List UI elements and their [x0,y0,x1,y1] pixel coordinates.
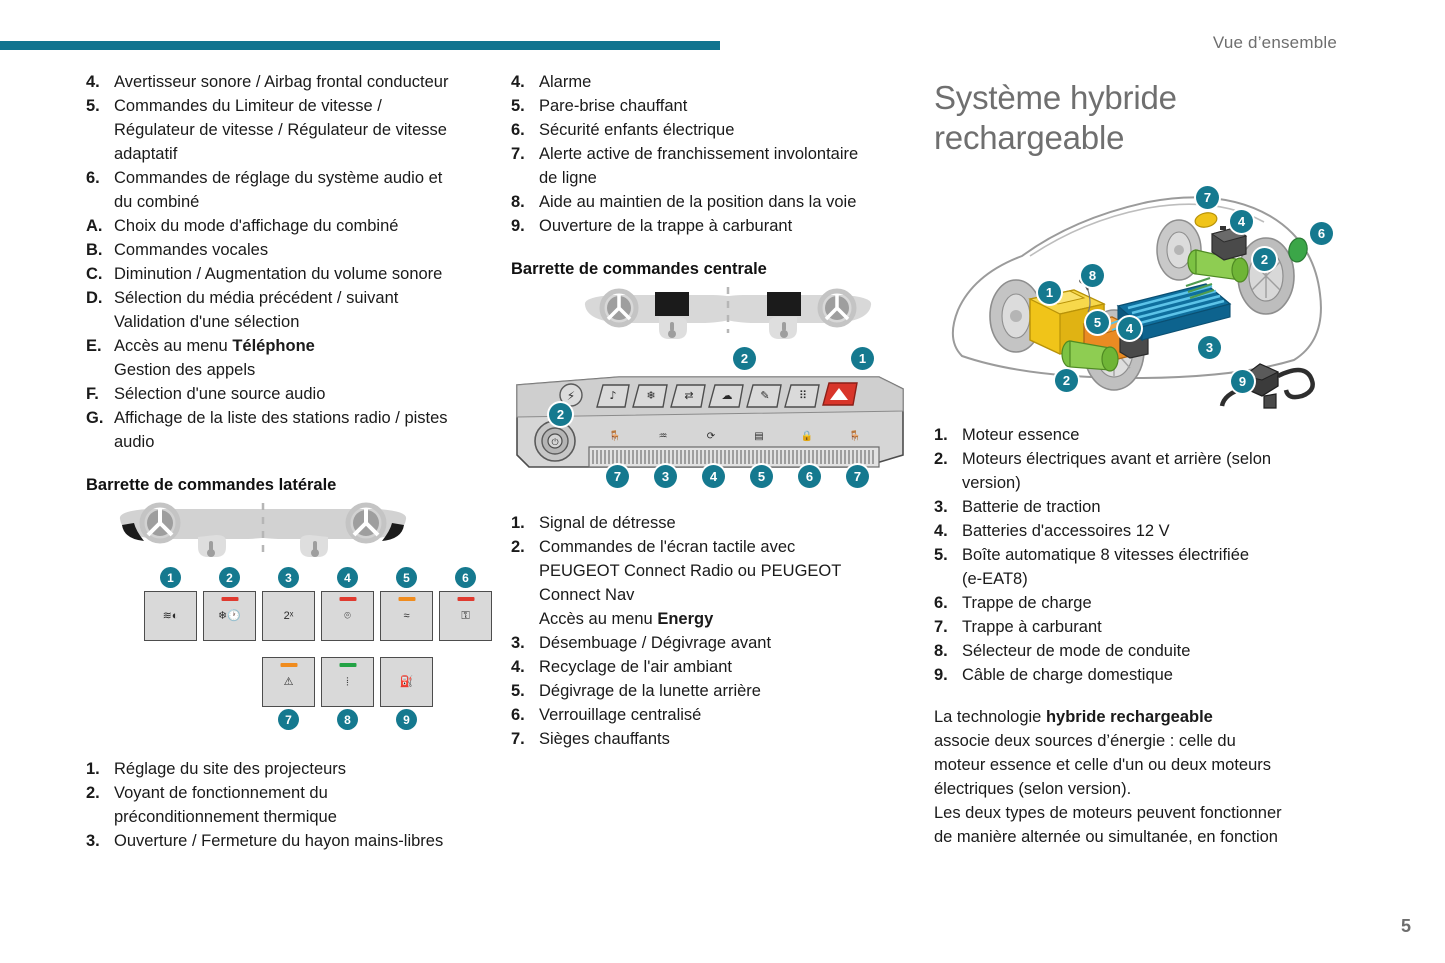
list-item-marker: 5. [934,543,962,567]
page-title-line-1: Système hybride [934,79,1177,116]
car-callout-badge-2: 2 [1253,248,1276,271]
list-item-line: Boîte automatique 8 vitesses électrifiée [962,543,1334,567]
svg-text:✎: ✎ [760,389,769,402]
list-item-text: Batteries d'accessoires 12 V [962,519,1334,543]
list-item: 4.Recyclage de l'air ambiant [511,655,911,679]
paragraph-lead-bold: hybride rechargeable [1046,708,1213,726]
console-badge-5: 5 [750,465,773,488]
control-button-wrapper: ≋◐1 [144,591,197,641]
car-callout-badge-2: 2 [1055,369,1078,392]
paragraph-line: moteur essence et celle d'un ou deux mot… [934,753,1334,777]
list-item-marker: 4. [511,655,539,679]
list-item: 1.Signal de détresse [511,511,911,535]
column-right: Système hybride rechargeable [934,70,1334,849]
list-item-text: Aide au maintien de la position dans la … [539,190,911,214]
list-item-line: audio [114,430,491,454]
list-item: 7.Alerte active de franchissement involo… [511,142,911,190]
car-callout-badge-1: 1 [1038,281,1061,304]
list-item-text: Commandes de réglage du système audio et… [114,166,491,214]
page-title-line-2: rechargeable [934,119,1124,156]
svg-text:⏻: ⏻ [551,437,558,448]
list-item-marker: 1. [934,423,962,447]
list-item-line: Verrouillage centralisé [539,703,911,727]
list-item-text: Avertisseur sonore / Airbag frontal cond… [114,70,491,94]
hybrid-components-list: 1.Moteur essence2.Moteurs électriques av… [934,423,1334,687]
callout-badge-9: 9 [396,709,417,730]
car-callout-badge-5: 5 [1086,311,1109,334]
list-item-line: Commandes de l'écran tactile avec [539,535,911,559]
list-item-marker: D. [86,286,114,310]
list-item: 7.Sièges chauffants [511,727,911,751]
list-item-text: Sécurité enfants électrique [539,118,911,142]
car-callout-badge-7: 7 [1196,186,1219,209]
list-item-text: Recyclage de l'air ambiant [539,655,911,679]
list-item-marker: 4. [511,70,539,94]
list-item-marker: E. [86,334,114,358]
list-item-line: du combiné [114,190,491,214]
list-item-line: Commandes vocales [114,238,491,262]
callout-badge-4: 4 [337,567,358,588]
control-button-wrapper: ⌾4 [321,591,374,641]
svg-text:🪑: 🪑 [849,429,861,442]
callout-badge-5: 5 [396,567,417,588]
electric-child-lock-icon: ⚿ [461,611,469,622]
list-item-line: Sélection du média précédent / suivant [114,286,491,310]
list-item-marker: G. [86,406,114,430]
header-accent-bar [0,41,720,50]
list-item-text: Commandes du Limiteur de vitesse /Régula… [114,94,491,166]
hands-free-tailgate-icon: 2ˣ [284,611,294,622]
indicator-led [280,663,297,667]
list-item-marker: 8. [511,190,539,214]
alarm-off-icon: ⌾ [344,611,351,622]
list-item-marker: A. [86,214,114,238]
list-item: B.Commandes vocales [86,238,491,262]
lane-departure-off-button[interactable]: ⚠ [262,657,315,707]
list-item-line: Ouverture de la trappe à carburant [539,214,911,238]
list-item-line: Trappe de charge [962,591,1334,615]
list-item-marker: 7. [511,142,539,166]
list-item-line: Accès au menu Energy [539,607,911,631]
indicator-led [339,663,356,667]
lateral-control-panel: ≋◐1❄🕐22ˣ3⌾4≈5⚿6 ⚠7⦙8⛽9 [86,591,491,741]
list-item-marker: 4. [86,70,114,94]
list-item-line: Réglage du site des projecteurs [114,757,491,781]
alarm-off-button[interactable]: ⌾ [321,591,374,641]
list-item-marker: 2. [511,535,539,559]
heated-windscreen-icon: ≈ [403,611,409,622]
list-item-line: Pare-brise chauffant [539,94,911,118]
control-button-wrapper: ⚠7 [262,657,315,707]
paragraph-line: de manière alternée ou simultanée, en fo… [934,825,1334,849]
svg-text:🪑: 🪑 [609,429,621,442]
heated-windscreen-button[interactable]: ≈ [380,591,433,641]
list-item-line: Choix du mode d'affichage du combiné [114,214,491,238]
console-badge-2-top: 2 [733,347,756,370]
centre-console-illustration: ⏻ ⚡ ♪ ❄ ⇄ ☁ ✎ [511,355,911,483]
list-item: 3.Désembuage / Dégivrage avant [511,631,911,655]
list-item-text: Choix du mode d'affichage du combiné [114,214,491,238]
electric-child-lock-button[interactable]: ⚿ [439,591,492,641]
lane-keeping-assist-button[interactable]: ⦙ [321,657,374,707]
paragraph-lead: La technologie [934,708,1046,726]
list-item-bold: Energy [657,610,713,628]
list-item-marker: 4. [934,519,962,543]
list-item-marker: 1. [86,757,114,781]
list-item: 9.Ouverture de la trappe à carburant [511,214,911,238]
list-item-line: Dégivrage de la lunette arrière [539,679,911,703]
list-item-line: Désembuage / Dégivrage avant [539,631,911,655]
list-item-line: Régulateur de vitesse / Régulateur de vi… [114,118,491,142]
list-item-line: version) [962,471,1334,495]
list-item-marker: C. [86,262,114,286]
car-callout-badge-4: 4 [1118,317,1141,340]
page-header: Vue d’ensemble [0,0,1445,70]
callout-badge-8: 8 [337,709,358,730]
page-body: 4.Avertisseur sonore / Airbag frontal co… [0,70,1445,963]
list-item-marker: 6. [511,118,539,142]
car-callout-badge-4: 4 [1230,210,1253,233]
list-item-text: Commandes vocales [114,238,491,262]
callout-badge-2: 2 [219,567,240,588]
svg-text:❄: ❄ [646,389,655,402]
list-item-text: Verrouillage centralisé [539,703,911,727]
page-number: 5 [1401,916,1411,937]
list-item-line: Voyant de fonctionnement du [114,781,491,805]
list-item-text: Dégivrage de la lunette arrière [539,679,911,703]
list-item-text: Ouverture de la trappe à carburant [539,214,911,238]
list-item-marker: 8. [934,639,962,663]
list-item-text: Sélection du média précédent / suivantVa… [114,286,491,334]
list-item-text: Diminution / Augmentation du volume sono… [114,262,491,286]
list-item: 5.Dégivrage de la lunette arrière [511,679,911,703]
list-item: 5.Commandes du Limiteur de vitesse /Régu… [86,94,491,166]
list-item-line: Trappe à carburant [962,615,1334,639]
steering-controls-list: 4.Avertisseur sonore / Airbag frontal co… [86,70,491,454]
console-badge-7-right: 7 [846,465,869,488]
paragraph-line: électriques (selon version). [934,777,1334,801]
lateral-controls-list: 1.Réglage du site des projecteurs2.Voyan… [86,757,491,853]
list-item: F.Sélection d'une source audio [86,382,491,406]
list-item-line: Accès au menu Téléphone [114,334,491,358]
headlamp-levelling-icon: ≋◐ [163,611,179,622]
list-item-line: Recyclage de l'air ambiant [539,655,911,679]
list-item-text: Boîte automatique 8 vitesses électrifiée… [962,543,1334,591]
control-button-wrapper: ❄🕐2 [203,591,256,641]
control-button-wrapper: 2ˣ3 [262,591,315,641]
list-item-text: Accès au menu TéléphoneGestion des appel… [114,334,491,382]
indicator-led [339,597,356,601]
lane-keeping-assist-icon: ⦙ [346,677,348,688]
control-button-wrapper: ⦙8 [321,657,374,707]
svg-text:♒: ♒ [659,431,668,442]
paragraph-line: associe deux sources d’énergie : celle d… [934,729,1334,753]
list-item: 4.Avertisseur sonore / Airbag frontal co… [86,70,491,94]
callout-badge-1: 1 [160,567,181,588]
list-item-line: Avertisseur sonore / Airbag frontal cond… [114,70,491,94]
list-item-line: Aide au maintien de la position dans la … [539,190,911,214]
list-item-line: Sélection d'une source audio [114,382,491,406]
list-item: 6.Commandes de réglage du système audio … [86,166,491,214]
console-badge-4: 4 [702,465,725,488]
list-item-text: Moteur essence [962,423,1334,447]
list-item: 9.Câble de charge domestique [934,663,1334,687]
list-item: G.Affichage de la liste des stations rad… [86,406,491,454]
list-item-marker: 6. [86,166,114,190]
fuel-flap-icon: ⛽ [400,677,414,688]
svg-text:♪: ♪ [609,389,616,402]
callout-badge-7: 7 [278,709,299,730]
list-item: C.Diminution / Augmentation du volume so… [86,262,491,286]
list-item-text: Affichage de la liste des stations radio… [114,406,491,454]
dashboard-illustration-central [511,287,911,347]
list-item-text: Sièges chauffants [539,727,911,751]
list-item-text: Réglage du site des projecteurs [114,757,491,781]
list-item-marker: 1. [511,511,539,535]
section-heading-lateral: Barrette de commandes latérale [86,476,491,495]
callout-badge-6: 6 [455,567,476,588]
list-item-text: Alerte active de franchissement involont… [539,142,911,190]
list-item-text: Signal de détresse [539,511,911,535]
console-badge-3: 3 [654,465,677,488]
dashboard-illustration-lateral [86,501,491,565]
list-item: 2.Voyant de fonctionnement dupréconditio… [86,781,491,829]
list-item-text: Alarme [539,70,911,94]
svg-text:⚡: ⚡ [567,389,575,403]
console-badge-7-left: 7 [606,465,629,488]
svg-text:▤: ▤ [754,431,763,442]
car-callout-badge-3: 3 [1198,336,1221,359]
list-item: 4.Alarme [511,70,911,94]
svg-text:⠿: ⠿ [799,389,807,402]
thermal-preconditioning-icon: ❄🕐 [218,611,241,622]
list-item-line: Commandes de réglage du système audio et [114,166,491,190]
list-item-line: Sécurité enfants électrique [539,118,911,142]
list-item-line: PEUGEOT Connect Radio ou PEUGEOT [539,559,911,583]
list-item-marker: F. [86,382,114,406]
paragraph-lines: associe deux sources d’énergie : celle d… [934,729,1334,849]
thermal-preconditioning-button[interactable]: ❄🕐 [203,591,256,641]
list-item: 6.Verrouillage centralisé [511,703,911,727]
list-item-line: préconditionnement thermique [114,805,491,829]
list-item: A.Choix du mode d'affichage du combiné [86,214,491,238]
column-middle: 4.Alarme5.Pare-brise chauffant6.Sécurité… [511,70,911,751]
list-item-text: Voyant de fonctionnement dupréconditionn… [114,781,491,829]
list-item-text: Moteurs électriques avant et arrière (se… [962,447,1334,495]
list-item: 2.Moteurs électriques avant et arrière (… [934,447,1334,495]
list-item: 6.Trappe de charge [934,591,1334,615]
car-callout-badge-9: 9 [1231,370,1254,393]
svg-text:⟳: ⟳ [707,431,716,442]
list-item: 8.Sélecteur de mode de conduite [934,639,1334,663]
lateral-button-row-1: ≋◐1❄🕐22ˣ3⌾4≈5⚿6 [144,591,491,641]
control-button-wrapper: ⚿6 [439,591,492,641]
list-item-bold: Téléphone [232,337,315,355]
console-badge-6: 6 [798,465,821,488]
list-item-line: Gestion des appels [114,358,491,382]
list-item-marker: 5. [86,94,114,118]
list-item-line: Batterie de traction [962,495,1334,519]
list-item-text: Sélection d'une source audio [114,382,491,406]
control-button-wrapper: ⛽9 [380,657,433,707]
list-item-text: Trappe de charge [962,591,1334,615]
list-item: 2.Commandes de l'écran tactile avecPEUGE… [511,535,911,631]
list-item: 3.Batterie de traction [934,495,1334,519]
list-item-line: Commandes du Limiteur de vitesse / [114,94,491,118]
list-item-text: Désembuage / Dégivrage avant [539,631,911,655]
list-item-line: Ouverture / Fermeture du hayon mains-lib… [114,829,491,853]
list-item-line: Câble de charge domestique [962,663,1334,687]
list-item: 1.Réglage du site des projecteurs [86,757,491,781]
list-item-line: Diminution / Augmentation du volume sono… [114,262,491,286]
console-badge-2-left: 2 [549,403,572,426]
list-item: 1.Moteur essence [934,423,1334,447]
list-item-line: Moteurs électriques avant et arrière (se… [962,447,1334,471]
headlamp-levelling-button[interactable]: ≋◐ [144,591,197,641]
indicator-led [221,597,238,601]
list-item-marker: 6. [511,703,539,727]
list-item-line: (e-EAT8) [962,567,1334,591]
paragraph-line: Les deux types de moteurs peuvent foncti… [934,801,1334,825]
list-item-line: Batteries d'accessoires 12 V [962,519,1334,543]
list-item-line: Validation d'une sélection [114,310,491,334]
list-item-line: Alarme [539,70,911,94]
list-item-marker: 6. [934,591,962,615]
indicator-led [398,597,415,601]
list-item-marker: 5. [511,679,539,703]
list-item: E.Accès au menu TéléphoneGestion des app… [86,334,491,382]
list-item-text: Trappe à carburant [962,615,1334,639]
lateral-controls-list-continued: 4.Alarme5.Pare-brise chauffant6.Sécurité… [511,70,911,238]
list-item-line: Sélecteur de mode de conduite [962,639,1334,663]
lateral-button-row-2: ⚠7⦙8⛽9 [262,657,491,707]
list-item: 5.Pare-brise chauffant [511,94,911,118]
svg-text:🔒: 🔒 [801,430,813,442]
list-item-text: Batterie de traction [962,495,1334,519]
list-item-marker: 2. [934,447,962,471]
list-item-text: Sélecteur de mode de conduite [962,639,1334,663]
list-item-line: Sièges chauffants [539,727,911,751]
list-item-marker: 9. [934,663,962,687]
list-item-line: Moteur essence [962,423,1334,447]
list-item: 5.Boîte automatique 8 vitesses électrifi… [934,543,1334,591]
paragraph-lead-line: La technologie hybride rechargeable [934,705,1334,729]
list-item-marker: 7. [934,615,962,639]
page-title: Système hybride rechargeable [934,78,1334,158]
list-item-text: Câble de charge domestique [962,663,1334,687]
list-item: 6.Sécurité enfants électrique [511,118,911,142]
svg-text:☁: ☁ [722,389,733,402]
control-button-wrapper: ≈5 [380,591,433,641]
list-item-text: Pare-brise chauffant [539,94,911,118]
list-item-marker: B. [86,238,114,262]
console-badge-1: 1 [851,347,874,370]
callout-badge-3: 3 [278,567,299,588]
fuel-flap-button[interactable]: ⛽ [380,657,433,707]
header-chapter-title: Vue d’ensemble [1213,33,1337,53]
list-item-line: Affichage de la liste des stations radio… [114,406,491,430]
list-item-line: Signal de détresse [539,511,911,535]
list-item-line: de ligne [539,166,911,190]
list-item: 4.Batteries d'accessoires 12 V [934,519,1334,543]
indicator-led [457,597,474,601]
svg-text:⇄: ⇄ [684,389,693,402]
list-item-line: Alerte active de franchissement involont… [539,142,911,166]
list-item-marker: 5. [511,94,539,118]
hybrid-powertrain-illustration: 74628154329 [934,164,1334,409]
car-callout-badge-6: 6 [1310,222,1333,245]
list-item: 3.Ouverture / Fermeture du hayon mains-l… [86,829,491,853]
central-controls-list: 1.Signal de détresse2.Commandes de l'écr… [511,511,911,751]
list-item-text: Ouverture / Fermeture du hayon mains-lib… [114,829,491,853]
list-item-marker: 7. [511,727,539,751]
list-item-marker: 2. [86,781,114,805]
list-item-marker: 9. [511,214,539,238]
hybrid-description-paragraph: La technologie hybride rechargeable asso… [934,705,1334,849]
list-item-text: Commandes de l'écran tactile avecPEUGEOT… [539,535,911,631]
list-item: 7.Trappe à carburant [934,615,1334,639]
list-item-line: Connect Nav [539,583,911,607]
list-item-line: adaptatif [114,142,491,166]
list-item-marker: 3. [86,829,114,853]
list-item: D.Sélection du média précédent / suivant… [86,286,491,334]
section-heading-central: Barrette de commandes centrale [511,260,911,279]
list-item: 8.Aide au maintien de la position dans l… [511,190,911,214]
hands-free-tailgate-button[interactable]: 2ˣ [262,591,315,641]
list-item-marker: 3. [511,631,539,655]
car-callout-badge-8: 8 [1081,264,1104,287]
lane-departure-off-icon: ⚠ [284,677,294,688]
list-item-marker: 3. [934,495,962,519]
column-left: 4.Avertisseur sonore / Airbag frontal co… [86,70,491,853]
